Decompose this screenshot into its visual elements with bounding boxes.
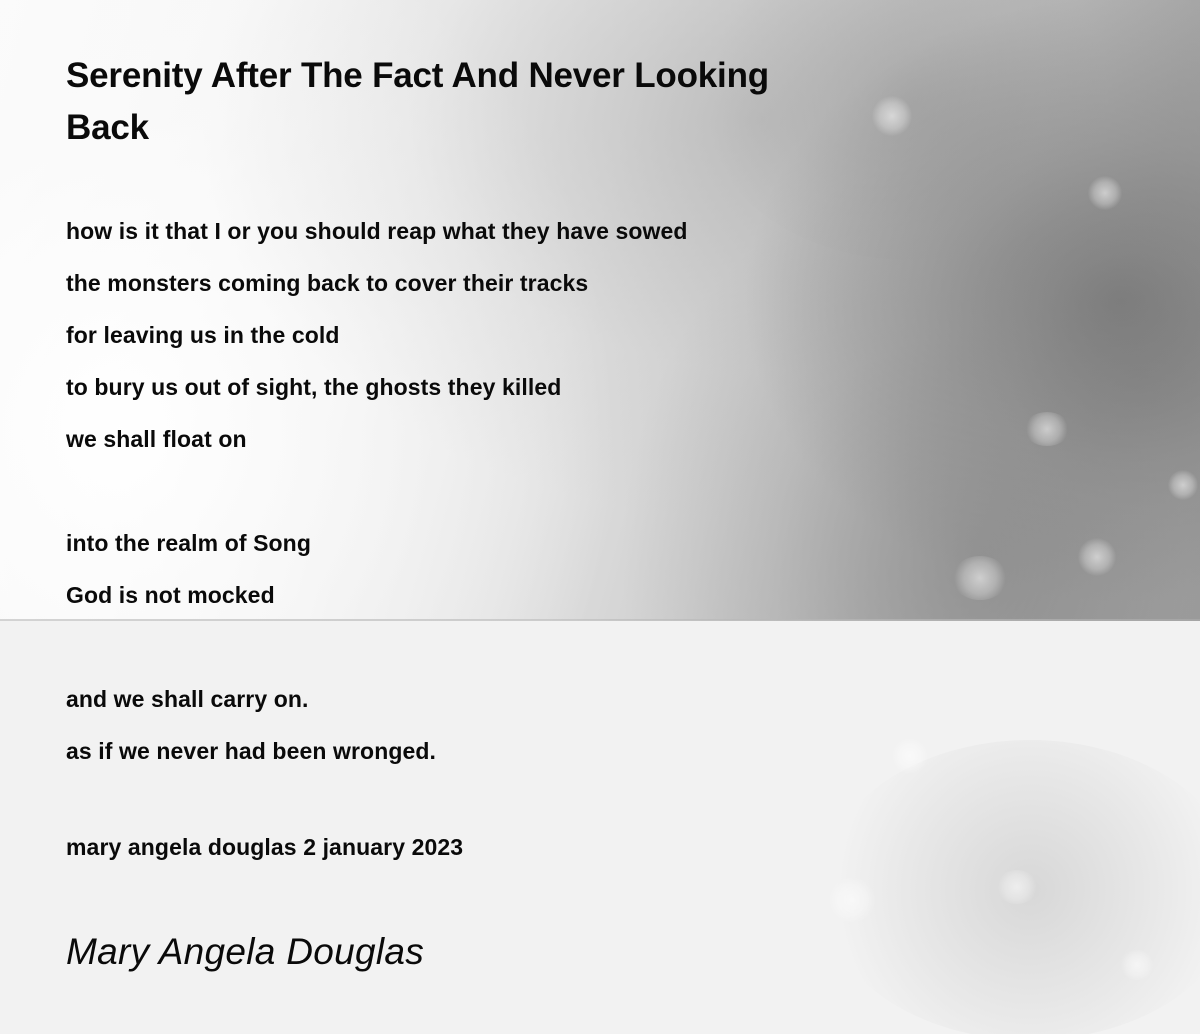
poem-line: for leaving us in the cold <box>66 309 1106 361</box>
poem-line: God is not mocked <box>66 569 1106 621</box>
poem-stanza-1: how is it that I or you should reap what… <box>66 205 1106 465</box>
poem-line: to bury us out of sight, the ghosts they… <box>66 361 1106 413</box>
poem-line: as if we never had been wronged. <box>66 725 1106 777</box>
poem-line: into the realm of Song <box>66 517 1106 569</box>
poem-line: how is it that I or you should reap what… <box>66 205 1106 257</box>
poem-stanza-3: and we shall carry on. as if we never ha… <box>66 673 1106 777</box>
poem-title: Serenity After The Fact And Never Lookin… <box>66 50 986 154</box>
poem-byline: mary angela douglas 2 january 2023 <box>66 829 463 865</box>
poem-line: the monsters coming back to cover their … <box>66 257 1106 309</box>
poem-image-card: Serenity After The Fact And Never Lookin… <box>0 0 1200 1034</box>
poem-stanza-2: into the realm of Song God is not mocked <box>66 517 1106 621</box>
poem-line: we shall float on <box>66 413 1106 465</box>
poem-text-layer: Serenity After The Fact And Never Lookin… <box>0 0 1200 1034</box>
poem-author-signature: Mary Angela Douglas <box>66 927 424 977</box>
poem-line: and we shall carry on. <box>66 673 1106 725</box>
